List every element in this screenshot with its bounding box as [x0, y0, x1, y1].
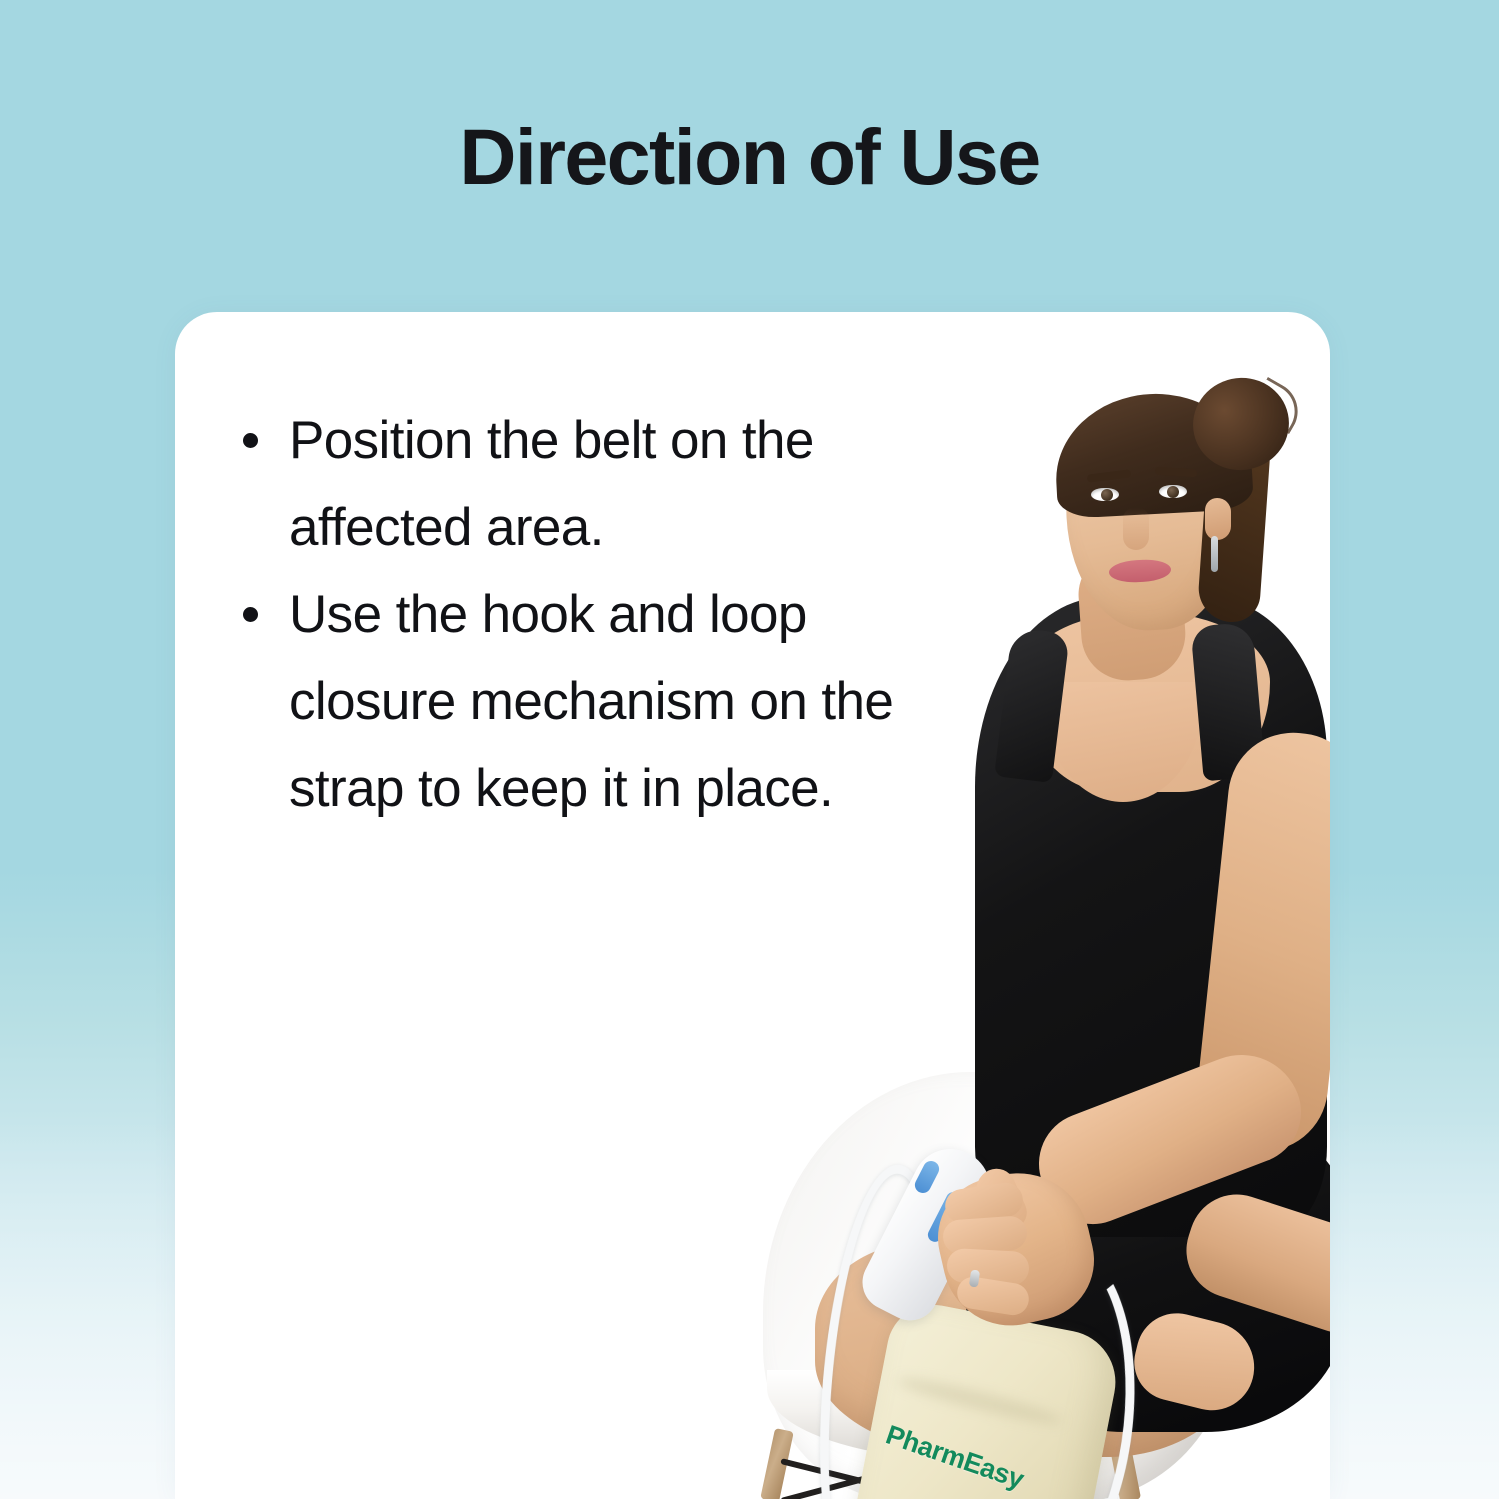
model-iris-left: [1101, 489, 1113, 501]
model-ear: [1205, 498, 1231, 540]
list-item: Position the belt on the affected area.: [237, 397, 957, 571]
list-item-label: Position the belt on the affected area.: [289, 411, 814, 557]
model-nose: [1123, 508, 1149, 550]
bullet-dot-icon: [243, 607, 258, 622]
poster-root: Direction of Use: [0, 0, 1499, 1499]
instruction-card: PharmEasy Position the belt on the affec…: [175, 312, 1330, 1499]
page-title: Direction of Use: [0, 117, 1499, 196]
list-item-label: Use the hook and loop closure mechanism …: [289, 585, 893, 818]
bullet-dot-icon: [243, 433, 258, 448]
model-iris-right: [1167, 486, 1179, 498]
model-earring: [1211, 536, 1218, 572]
list-item: Use the hook and loop closure mechanism …: [237, 571, 957, 832]
instruction-list: Position the belt on the affected area. …: [237, 397, 957, 832]
